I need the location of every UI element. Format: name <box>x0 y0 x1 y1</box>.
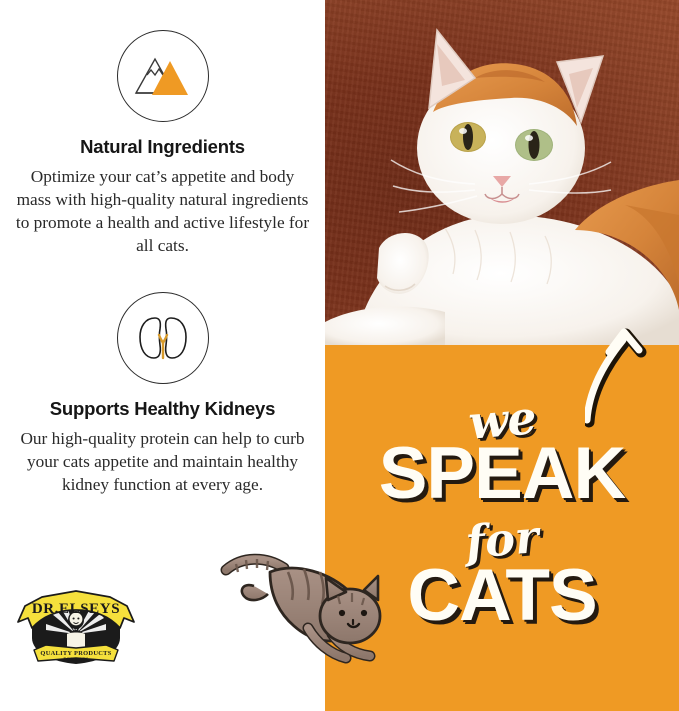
logo-banner-subtext: FOR CATS <box>63 657 88 662</box>
cat-photo <box>325 0 679 345</box>
feature-title: Natural Ingredients <box>0 136 325 158</box>
slogan-word-speak: SPEAK <box>325 437 679 510</box>
leaping-tabby-cat-illustration <box>212 542 392 668</box>
feature-description: Our high-quality protein can help to cur… <box>13 427 313 496</box>
feature-description: Optimize your cat’s appetite and body ma… <box>13 165 313 257</box>
product-feature-infographic: Natural Ingredients Optimize your cat’s … <box>0 0 679 711</box>
curved-up-arrow-icon <box>585 318 665 428</box>
dr-elseys-logo: DR.ELSEYS QUALITY PRODUCTS FOR CATS <box>12 588 140 666</box>
mountain-icon <box>117 30 209 122</box>
feature-block-natural-ingredients: Natural Ingredients Optimize your cat’s … <box>0 30 325 257</box>
cat-photo-subject <box>325 0 679 345</box>
logo-wordmark: DR.ELSEYS <box>32 601 120 617</box>
feature-title: Supports Healthy Kidneys <box>0 398 325 420</box>
kidney-icon <box>117 292 209 384</box>
feature-block-healthy-kidneys: Supports Healthy Kidneys Our high-qualit… <box>0 292 325 496</box>
